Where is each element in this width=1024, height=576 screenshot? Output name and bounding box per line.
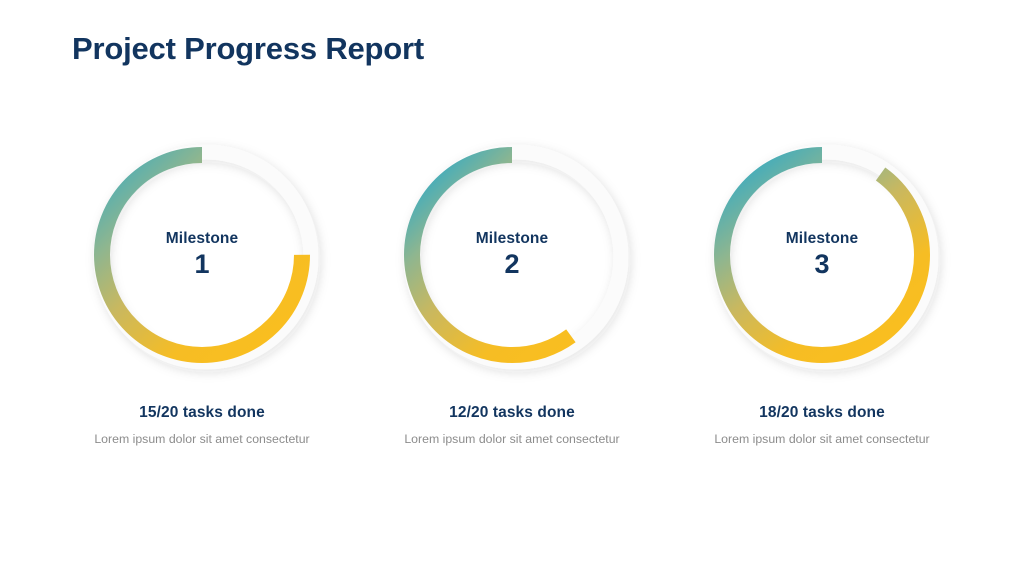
milestone-card[interactable]: Milestone 3 18/20 tasks done Lorem ipsum… bbox=[667, 130, 977, 449]
donut-svg bbox=[387, 130, 637, 380]
milestone-caption: 18/20 tasks done Lorem ipsum dolor sit a… bbox=[682, 404, 962, 449]
milestone-card[interactable]: Milestone 1 15/20 tasks done Lorem ipsum… bbox=[47, 130, 357, 449]
donut-svg bbox=[697, 130, 947, 380]
milestone-card[interactable]: Milestone 2 12/20 tasks done Lorem ipsum… bbox=[357, 130, 667, 449]
milestone-caption: 12/20 tasks done Lorem ipsum dolor sit a… bbox=[372, 404, 652, 449]
donut-progress-arc bbox=[722, 155, 922, 355]
milestone-caption: 15/20 tasks done Lorem ipsum dolor sit a… bbox=[62, 404, 342, 449]
slide-canvas: Project Progress Report bbox=[0, 0, 1024, 576]
milestone-description: Lorem ipsum dolor sit amet consectetur bbox=[62, 431, 342, 449]
milestone-card-row: Milestone 1 15/20 tasks done Lorem ipsum… bbox=[0, 130, 1024, 449]
tasks-done-text: 12/20 tasks done bbox=[372, 404, 652, 422]
tasks-done-text: 18/20 tasks done bbox=[682, 404, 962, 422]
progress-donut-chart: Milestone 2 bbox=[387, 130, 637, 380]
milestone-description: Lorem ipsum dolor sit amet consectetur bbox=[682, 431, 962, 449]
page-title: Project Progress Report bbox=[72, 31, 424, 67]
donut-svg bbox=[77, 130, 327, 380]
tasks-done-text: 15/20 tasks done bbox=[62, 404, 342, 422]
progress-donut-chart: Milestone 3 bbox=[697, 130, 947, 380]
progress-donut-chart: Milestone 1 bbox=[77, 130, 327, 380]
milestone-description: Lorem ipsum dolor sit amet consectetur bbox=[372, 431, 652, 449]
